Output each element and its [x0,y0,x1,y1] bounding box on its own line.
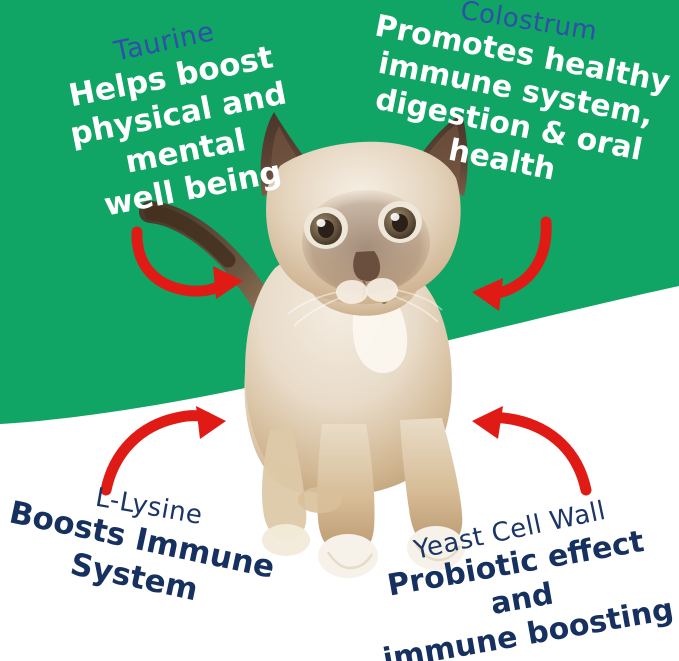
taurine-arrow [137,232,243,299]
yeast-arrow [472,406,586,490]
ingredient-benefits-infographic: .arw { fill:none; stroke:#e01b16; stroke… [0,0,679,661]
lysine-arrow [106,406,226,490]
colostrum-arrow [472,222,546,311]
